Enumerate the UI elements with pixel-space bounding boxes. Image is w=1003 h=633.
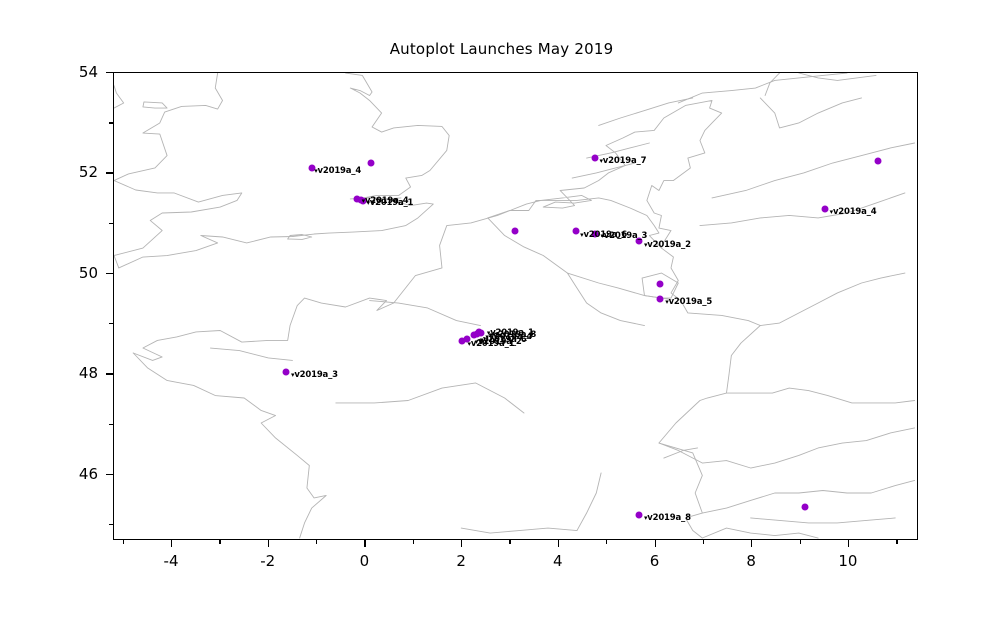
data-point-label: v2019a_7 <box>599 156 646 166</box>
x-axis-minor-tick <box>703 540 704 544</box>
coastline-path <box>577 473 601 531</box>
x-axis-tick-label: 2 <box>456 552 466 570</box>
y-axis-tick <box>106 72 113 73</box>
data-point[interactable] <box>635 511 642 518</box>
data-point[interactable] <box>874 157 881 164</box>
y-axis-tick <box>106 373 113 374</box>
y-axis-minor-tick <box>109 223 113 224</box>
x-axis-minor-tick <box>896 540 897 544</box>
data-point-label: v2019a_8 <box>644 513 691 523</box>
x-axis-minor-tick <box>316 540 317 544</box>
coastline-path <box>133 353 326 538</box>
x-axis-tick <box>171 540 172 547</box>
data-point[interactable] <box>657 295 664 302</box>
coastline-path <box>765 73 779 96</box>
coastline-path <box>760 98 861 128</box>
x-axis-tick-label: -4 <box>164 552 179 570</box>
x-axis-tick <box>461 540 462 547</box>
coastline-path <box>678 73 847 103</box>
figure-canvas: Autoplot Launches May 2019 v2019a_1v2019… <box>0 0 1003 633</box>
data-point[interactable] <box>821 205 828 212</box>
data-point-label: v2019a_4 <box>830 207 877 217</box>
y-axis-tick <box>106 273 113 274</box>
x-axis-tick <box>268 540 269 547</box>
x-axis-minor-tick <box>413 540 414 544</box>
y-axis-tick-label: 48 <box>0 364 98 382</box>
y-axis-minor-tick <box>109 424 113 425</box>
coastline-path <box>210 348 292 360</box>
y-axis-tick <box>106 172 113 173</box>
y-axis-minor-tick <box>109 323 113 324</box>
x-axis-tick-label: 0 <box>360 552 370 570</box>
data-point[interactable] <box>512 228 519 235</box>
coastline-path <box>599 98 693 125</box>
coastline-path <box>726 388 914 403</box>
y-axis-minor-tick <box>109 524 113 525</box>
x-axis-tick <box>848 540 849 547</box>
x-axis-minor-tick <box>800 540 801 544</box>
coastline-path <box>702 528 818 538</box>
x-axis-tick-label: 6 <box>650 552 660 570</box>
data-point[interactable] <box>282 368 289 375</box>
x-axis-minor-tick <box>509 540 510 544</box>
data-point[interactable] <box>802 504 809 511</box>
coastline-path <box>712 143 915 198</box>
x-axis-tick <box>655 540 656 547</box>
y-axis-tick-label: 50 <box>0 264 98 282</box>
x-axis-tick-label: 10 <box>838 552 857 570</box>
x-axis-tick-label: 8 <box>746 552 756 570</box>
coastline-path <box>461 528 577 533</box>
data-point-label: v2019a_5 <box>665 297 712 307</box>
coastline-path <box>751 518 896 523</box>
data-point-label: v2019a_1 <box>366 198 413 208</box>
coastline-path <box>114 86 124 109</box>
data-point[interactable] <box>368 160 375 167</box>
map-coastlines <box>114 73 917 539</box>
data-point-label: v2019a_2 <box>644 240 691 250</box>
coastline-path <box>133 100 760 538</box>
data-point[interactable] <box>459 338 466 345</box>
data-point[interactable] <box>657 280 664 287</box>
x-axis-tick-label: -2 <box>260 552 275 570</box>
data-point-label: v2019a_1 <box>468 339 515 349</box>
x-axis-minor-tick <box>219 540 220 544</box>
x-axis-minor-tick <box>606 540 607 544</box>
data-point-label: v2019a_3 <box>291 370 338 380</box>
y-axis-tick <box>106 474 113 475</box>
coastline-path <box>114 73 242 268</box>
coastline-path <box>760 273 905 325</box>
coastline-path <box>567 273 644 325</box>
y-axis-tick-label: 54 <box>0 63 98 81</box>
x-axis-minor-tick <box>123 540 124 544</box>
coastline-path <box>336 383 524 413</box>
coastline-path <box>143 102 167 108</box>
x-axis-tick <box>364 540 365 547</box>
chart-title: Autoplot Launches May 2019 <box>0 40 1003 58</box>
data-point[interactable] <box>592 155 599 162</box>
x-axis-tick-label: 4 <box>553 552 563 570</box>
data-point[interactable] <box>572 228 579 235</box>
y-axis-minor-tick <box>109 122 113 123</box>
data-point-label: v2019a_3 <box>600 231 647 241</box>
y-axis-tick-label: 46 <box>0 465 98 483</box>
coastline-path <box>370 301 481 326</box>
plot-axes: v2019a_1v2019a_8v2019a_4v2019a_6v2019a_2… <box>113 72 918 540</box>
x-axis-tick <box>751 540 752 547</box>
y-axis-tick-label: 52 <box>0 163 98 181</box>
x-axis-tick <box>558 540 559 547</box>
data-point-label: v2019a_4 <box>314 166 361 176</box>
coastline-path <box>119 73 449 268</box>
